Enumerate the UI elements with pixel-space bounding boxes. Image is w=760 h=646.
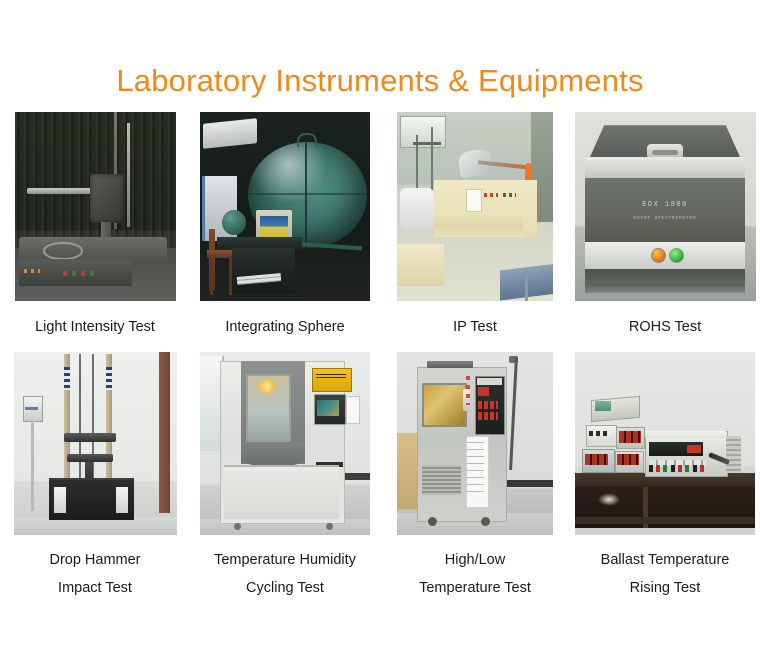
caption-line-1: Light Intensity Test: [35, 313, 155, 341]
ventilation-grille: [422, 465, 461, 494]
power-cable: [509, 357, 518, 470]
rohs-test-photo[interactable]: EDX 1800 EDXRF SPECTROMETER: [575, 112, 756, 301]
tank-front-face: [434, 212, 523, 237]
sphere-stand: [293, 242, 361, 251]
power-indicator-orange-icon: [651, 248, 666, 263]
chair-leg-right: [229, 258, 232, 296]
device-model-label: EDX 1800: [575, 201, 756, 209]
item-caption: Drop Hammer Impact Test: [49, 546, 140, 602]
sphere-hook: [297, 133, 317, 147]
turntable-ring: [43, 242, 82, 259]
warning-label: [312, 368, 351, 392]
small-sphere: [222, 210, 246, 235]
wall-light-panel: [203, 119, 257, 149]
photometer-head: [90, 174, 124, 223]
base-pad-right: [116, 487, 127, 513]
main-unit-readout: [687, 445, 701, 452]
gallery-item-rohs-test[interactable]: EDX 1800 EDXRF SPECTROMETER ROHS Test: [570, 112, 760, 352]
ip-test-photo[interactable]: [397, 112, 553, 301]
instrument-top-display: [595, 401, 611, 410]
gallery-item-drop-hammer-impact-test[interactable]: Drop Hammer Impact Test: [0, 352, 190, 602]
shelf-items: [598, 493, 620, 506]
gallery-item-integrating-sphere[interactable]: Integrating Sphere: [190, 112, 380, 352]
monitor-screen: [260, 216, 289, 237]
item-caption: IP Test: [453, 313, 497, 341]
toggle-switch-bank: [589, 431, 611, 436]
gallery-row: Drop Hammer Impact Test: [0, 352, 760, 602]
vertical-pole: [127, 123, 130, 227]
caster-left: [428, 517, 437, 526]
gallery-item-temperature-humidity-cycling-test[interactable]: Temperature Humidity Cycling Test: [190, 352, 380, 602]
ballast-temperature-rising-test-photo[interactable]: [575, 352, 755, 535]
meter-led-display-lower: [617, 454, 639, 465]
column-scale-right: [106, 367, 112, 391]
item-caption: ROHS Test: [629, 313, 701, 341]
tank-label: [466, 189, 482, 212]
sphere-seam-horizontal: [248, 193, 367, 195]
table-reflection: [585, 269, 744, 294]
temperature-humidity-cycling-test-photo[interactable]: [200, 352, 370, 535]
item-caption: Light Intensity Test: [35, 313, 155, 341]
caster-right: [326, 523, 333, 530]
spec-plate: [346, 396, 360, 424]
caption-line-1: Ballast Temperature: [601, 546, 730, 574]
door-frame: [159, 352, 170, 513]
column-scale-left: [64, 367, 70, 391]
record-sheet-text: [467, 442, 484, 497]
status-indicator-green-icon: [669, 248, 684, 263]
base-pad-left: [54, 487, 65, 513]
gallery-item-high-low-temperature-test[interactable]: High/Low Temperature Test: [380, 352, 570, 602]
caption-line-2: Temperature Test: [419, 574, 531, 602]
integrating-sphere-photo[interactable]: [200, 112, 370, 301]
item-caption: Temperature Humidity Cycling Test: [214, 546, 356, 602]
test-tank: [434, 180, 537, 237]
chair-seat: [207, 250, 233, 258]
chair-leg-left: [210, 258, 213, 296]
caster-left: [234, 523, 241, 530]
upper-panel-band: [585, 157, 744, 178]
table-leg: [525, 275, 528, 301]
light-intensity-test-photo[interactable]: [15, 112, 176, 301]
desk-body: [231, 248, 296, 293]
caption-line-1: IP Test: [453, 313, 497, 341]
wall-baseboard: [343, 473, 370, 480]
chamber-top-cap: [427, 361, 474, 368]
wooden-cabinet: [397, 433, 419, 510]
spectrometer-front-face: [585, 178, 744, 242]
caption-line-1: High/Low: [419, 546, 531, 574]
page-title: Laboratory Instruments & Equipments: [0, 63, 760, 99]
cross-bar: [413, 142, 441, 145]
controller-display-tertiary: [478, 412, 498, 419]
wall-baseboard: [506, 480, 553, 487]
caption-line-1: ROHS Test: [629, 313, 701, 341]
instrument-switch-box: [586, 425, 617, 447]
control-buttons: [503, 193, 515, 197]
gold-viewing-window: [422, 383, 467, 427]
white-cover: [400, 188, 434, 230]
high-low-temperature-test-photo[interactable]: [397, 352, 553, 535]
item-caption: Ballast Temperature Rising Test: [601, 546, 730, 602]
device-type-label: EDXRF SPECTROMETER: [575, 216, 756, 221]
meter-led-display-upper: [619, 431, 641, 444]
warning-label-text: [316, 374, 347, 380]
control-display: [25, 407, 38, 410]
tank-step: [397, 244, 444, 286]
lid-handle-slot: [652, 150, 677, 156]
gallery-item-ip-test[interactable]: IP Test: [380, 112, 570, 352]
indicator-leds: [484, 193, 498, 197]
terminal-block: [24, 269, 40, 273]
item-caption: Integrating Sphere: [225, 313, 344, 341]
main-unit-side-vent: [726, 436, 740, 473]
drop-hammer-impact-test-photo[interactable]: [14, 352, 177, 535]
main-unit-knob-row: [649, 465, 707, 472]
gallery-row: Light Intensity Test: [0, 112, 760, 352]
gallery-item-ballast-temperature-rising-test[interactable]: Ballast Temperature Rising Test: [570, 352, 760, 602]
controller-display-primary: [478, 387, 489, 396]
controller-screen: [317, 400, 339, 416]
meter-led-display-left: [585, 454, 608, 465]
control-knobs: [63, 271, 98, 276]
hoist-wire-left: [79, 354, 81, 482]
caption-line-2: Impact Test: [49, 574, 140, 602]
hammer-carriage-lower: [67, 454, 113, 461]
indicator-lamp-strip: [466, 376, 470, 405]
main-unit-top-bezel: [645, 431, 726, 438]
item-caption: High/Low Temperature Test: [419, 546, 531, 602]
caption-line-1: Temperature Humidity: [214, 546, 356, 574]
chamber-lower-door: [224, 465, 340, 518]
hammer-carriage: [64, 433, 116, 442]
caption-line-2: Cycling Test: [214, 574, 356, 602]
bench-lower-shelf: [575, 517, 755, 524]
equipment-gallery: Light Intensity Test: [0, 112, 760, 602]
control-stand-pole: [31, 420, 34, 512]
controller-header: [477, 378, 502, 385]
caption-line-1: Drop Hammer: [49, 546, 140, 574]
door-curve-trim: [241, 442, 306, 468]
controller-display-secondary: [478, 401, 498, 408]
caption-line-1: Integrating Sphere: [225, 313, 344, 341]
gallery-item-light-intensity-test[interactable]: Light Intensity Test: [0, 112, 190, 352]
caption-line-2: Rising Test: [601, 574, 730, 602]
